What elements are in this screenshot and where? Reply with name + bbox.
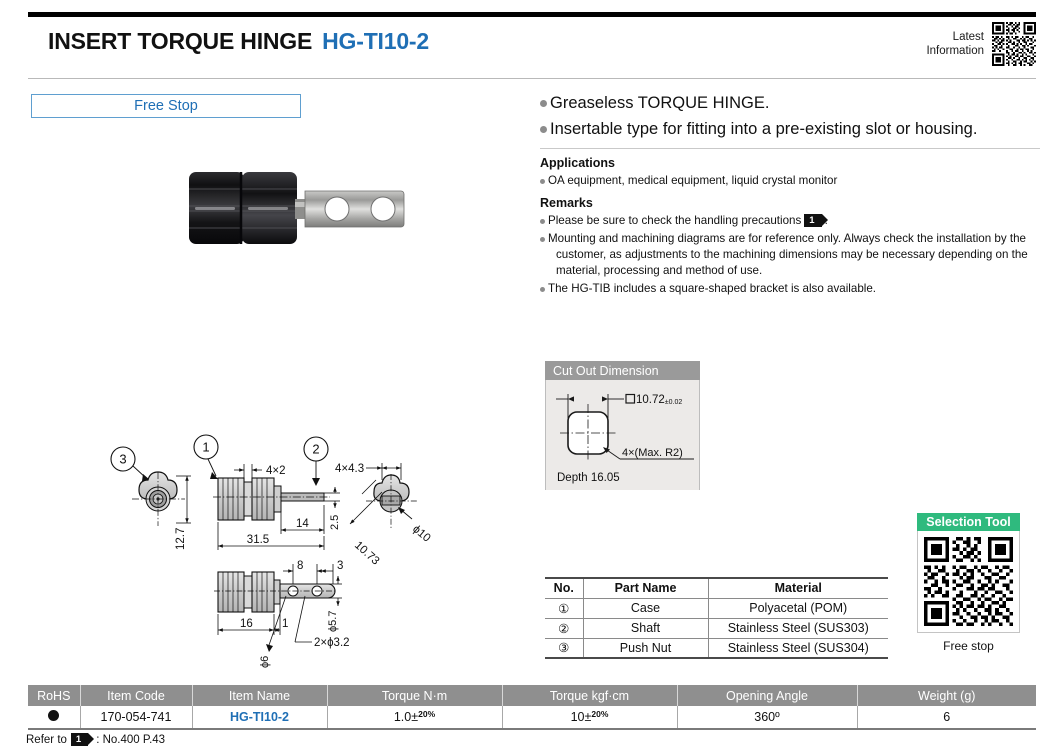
product-photo [185, 158, 435, 258]
spec-cell-torque-kgf: 10±20% [502, 706, 677, 729]
remarks-item-2-line-3: material, processing and method of use. [548, 263, 1028, 279]
spec-header-item-name: Item Name [192, 686, 327, 706]
feature-item: Insertable type for fitting into a pre-e… [540, 118, 1040, 140]
table-row: ③ Push Nut Stainless Steel (SUS304) [545, 638, 888, 658]
parts-cell-material: Stainless Steel (SUS304) [708, 638, 888, 658]
parts-cell-material: Stainless Steel (SUS303) [708, 618, 888, 638]
remarks-item-1: Please be sure to check the handling pre… [540, 213, 1040, 229]
spec-header-item-code: Item Code [80, 686, 192, 706]
bullet-dot-icon [540, 179, 545, 184]
remarks-item-2-line-2: customer, as adjustments to the machinin… [548, 247, 1028, 263]
header-divider [28, 78, 1036, 79]
dim-4x4-3: 4×4.3 [335, 463, 364, 475]
parts-table: No. Part Name Material ① Case Polyacetal… [545, 577, 888, 659]
dim-3: 3 [337, 560, 343, 572]
cut-out-depth-note: Depth 16.05 [557, 472, 620, 484]
selection-tool-heading: Selection Tool [917, 513, 1020, 531]
precaution-badge-icon: 1 [71, 733, 88, 746]
cut-out-corner-note: 4×(Max. R2) [622, 447, 683, 459]
dim-12-7: 12.7 [175, 528, 187, 550]
spec-header-torque-nm: Torque N·m [327, 686, 502, 706]
latest-line-1: Latest [926, 30, 984, 44]
free-stop-label: Free Stop [134, 98, 198, 114]
table-row: ② Shaft Stainless Steel (SUS303) [545, 618, 888, 638]
dim-31-5: 31.5 [247, 534, 269, 546]
parts-cell-name: Push Nut [583, 638, 708, 658]
table-row: ① Case Polyacetal (POM) [545, 598, 888, 618]
title-product-code: HG-TI10-2 [322, 28, 429, 55]
feature-text: Greaseless TORQUE HINGE. [550, 92, 769, 114]
bullet-dot-icon [540, 219, 545, 224]
parts-cell-name: Case [583, 598, 708, 618]
remarks-heading: Remarks [540, 196, 1040, 210]
parts-cell-no: ③ [545, 638, 583, 658]
bullet-dot-icon [540, 126, 547, 133]
cut-out-dimension-drawing: 10.72±0.02 4×(Max. R2) Depth 16.05 [545, 380, 700, 490]
selection-tool-caption: Free stop [917, 639, 1020, 653]
latest-information-label: Latest Information [926, 30, 984, 58]
dim-1: 1 [282, 618, 288, 630]
footer-reference: Refer to 1 : No.400 P.43 [26, 733, 165, 746]
footer-suffix: : No.400 P.43 [96, 734, 165, 746]
rohs-compliant-dot-icon [48, 710, 59, 721]
dim-phi10: ϕ10 [410, 523, 432, 545]
balloon-3-label: 3 [119, 452, 126, 467]
page-title: INSERT TORQUE HINGE HG-TI10-2 [48, 28, 429, 55]
specification-table: RoHS Item Code Item Name Torque N·m Torq… [28, 685, 1036, 730]
precaution-badge-icon: 1 [804, 214, 821, 227]
balloon-1-label: 1 [202, 440, 209, 455]
remarks-item-3-text: The HG-TIB includes a square-shaped brac… [548, 281, 876, 297]
remarks-item-1-text: Please be sure to check the handling pre… [548, 213, 828, 229]
spec-header-weight: Weight (g) [857, 686, 1036, 706]
spec-table-header-row: RoHS Item Code Item Name Torque N·m Torq… [28, 686, 1036, 706]
latest-line-2: Information [926, 44, 984, 58]
torque-nm-tolerance: 20% [418, 709, 435, 719]
feature-text: Insertable type for fitting into a pre-e… [550, 118, 977, 140]
footer-prefix: Refer to [26, 734, 67, 746]
spec-cell-weight: 6 [857, 706, 1036, 729]
bullet-dot-icon [540, 237, 545, 242]
qr-code-icon[interactable] [992, 22, 1036, 66]
spec-cell-item-name[interactable]: HG-TI10-2 [192, 706, 327, 729]
dim-8: 8 [297, 560, 303, 572]
parts-header-material: Material [708, 578, 888, 598]
technical-drawings: 3 12.7 1 [90, 430, 510, 670]
dim-2x-phi3-2: 2×ϕ3.2 [314, 637, 350, 649]
remarks-item-1-pre: Please be sure to check the handling pre… [548, 214, 801, 227]
dim-16: 16 [240, 618, 253, 630]
right-content-column: Greaseless TORQUE HINGE. Insertable type… [540, 92, 1040, 299]
title-product-type: INSERT TORQUE HINGE [48, 28, 312, 55]
parts-table-header-row: No. Part Name Material [545, 578, 888, 598]
remarks-item-3: The HG-TIB includes a square-shaped brac… [540, 281, 1040, 297]
datasheet-page: INSERT TORQUE HINGE HG-TI10-2 Latest Inf… [0, 0, 1062, 753]
remarks-item-2-text: Mounting and machining diagrams are for … [548, 231, 1028, 279]
remarks-item-2: Mounting and machining diagrams are for … [540, 231, 1040, 279]
parts-cell-name: Shaft [583, 618, 708, 638]
spec-header-opening-angle: Opening Angle [677, 686, 857, 706]
cut-out-dimension-heading: Cut Out Dimension [545, 361, 700, 380]
cut-out-dimension-panel: Cut Out Dimension 10.72±0.02 [545, 361, 700, 490]
parts-cell-material: Polyacetal (POM) [708, 598, 888, 618]
applications-item: OA equipment, medical equipment, liquid … [540, 173, 1040, 189]
top-black-rule [28, 12, 1036, 17]
torque-kgf-tolerance: 20% [591, 709, 608, 719]
dim-2-5: 2.5 [329, 515, 341, 530]
qr-code-icon[interactable] [924, 537, 1013, 626]
spec-cell-torque-nm: 1.0±20% [327, 706, 502, 729]
balloon-2-label: 2 [312, 442, 319, 457]
free-stop-badge: Free Stop [31, 94, 301, 118]
dim-14: 14 [296, 518, 309, 530]
dim-phi6: ϕ6 [259, 656, 271, 668]
remarks-item-2-line-1: Mounting and machining diagrams are for … [548, 231, 1028, 247]
parts-header-no: No. [545, 578, 583, 598]
section-divider [540, 148, 1040, 149]
parts-cell-no: ② [545, 618, 583, 638]
parts-header-part-name: Part Name [583, 578, 708, 598]
table-row: 170-054-741 HG-TI10-2 1.0±20% 10±20% 360… [28, 706, 1036, 729]
applications-item-text: OA equipment, medical equipment, liquid … [548, 173, 837, 189]
dim-phi5-7: ϕ5.7 [327, 611, 339, 632]
bullet-dot-icon [540, 287, 545, 292]
feature-item: Greaseless TORQUE HINGE. [540, 92, 1040, 114]
bullet-dot-icon [540, 100, 547, 107]
spec-cell-opening-angle: 360º [677, 706, 857, 729]
spec-cell-rohs [28, 706, 80, 729]
dim-4x2: 4×2 [266, 465, 286, 477]
torque-kgf-value: 10± [571, 710, 592, 724]
selection-tool-panel[interactable]: Selection Tool [917, 513, 1020, 653]
dim-10-73: 10.73 [352, 539, 381, 567]
torque-nm-value: 1.0± [394, 710, 418, 724]
cut-out-diagram-svg: 10.72±0.02 4×(Max. R2) Depth 16.05 [546, 380, 699, 490]
latest-information[interactable]: Latest Information [926, 22, 1036, 66]
spec-header-rohs: RoHS [28, 686, 80, 706]
spec-cell-item-code: 170-054-741 [80, 706, 192, 729]
applications-heading: Applications [540, 156, 1040, 170]
parts-cell-no: ① [545, 598, 583, 618]
selection-tool-body [917, 531, 1020, 633]
spec-header-torque-kgf: Torque kgf·cm [502, 686, 677, 706]
